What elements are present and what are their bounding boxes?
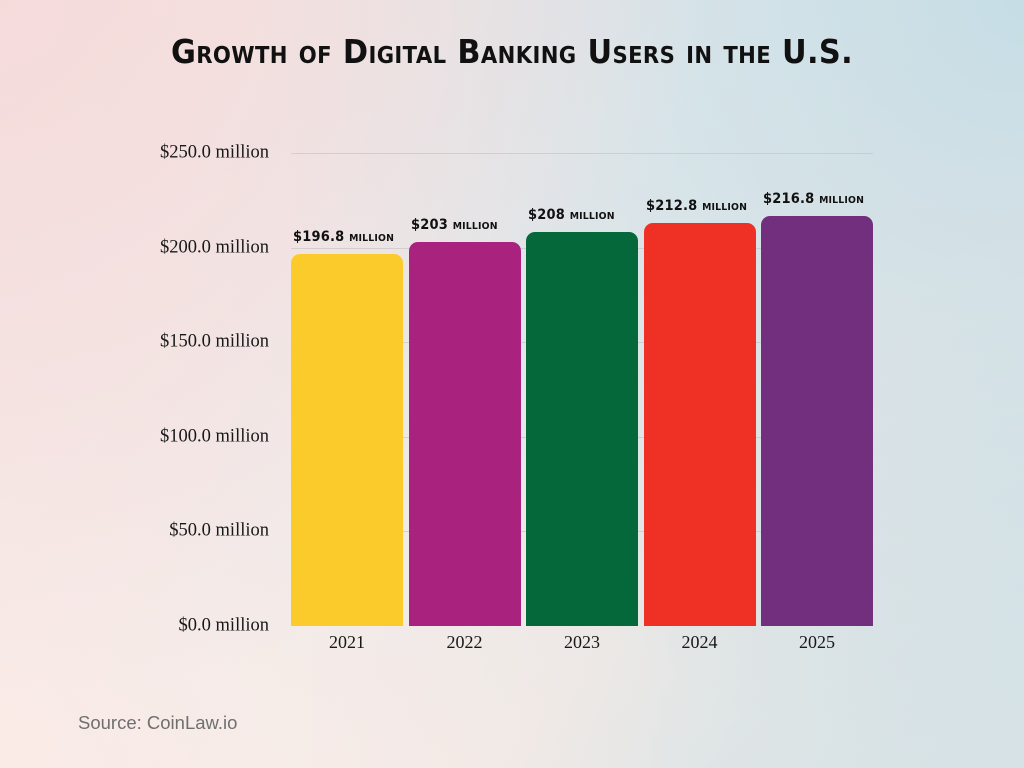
bar-value-label-2024: $212.8 million <box>646 198 747 214</box>
bar-2024[interactable] <box>644 223 756 626</box>
bar-2021[interactable] <box>291 254 403 626</box>
y-tick-label-100: $100.0 million <box>160 426 269 447</box>
bar-2022[interactable] <box>409 242 521 626</box>
y-tick-label-200: $200.0 million <box>160 237 269 258</box>
x-tick-label-2023: 2023 <box>526 632 638 653</box>
x-tick-label-2025: 2025 <box>761 632 873 653</box>
y-tick-label-0: $0.0 million <box>179 616 269 637</box>
bar-group-2024: $212.8 million <box>644 153 756 626</box>
infographic-canvas: Growth of Digital Banking Users in the U… <box>0 0 1024 768</box>
bar-value-label-2021: $196.8 million <box>293 229 394 245</box>
bar-group-2022: $203 million <box>409 153 521 626</box>
bar-2023[interactable] <box>526 232 638 626</box>
bar-group-2025: $216.8 million <box>761 153 873 626</box>
bar-group-2021: $196.8 million <box>291 153 403 626</box>
y-tick-label-50: $50.0 million <box>169 521 269 542</box>
bar-2025[interactable] <box>761 216 873 626</box>
x-axis-labels: 2021 2022 2023 2024 2025 <box>291 632 873 662</box>
bar-value-label-2022: $203 million <box>411 217 498 233</box>
page-title: Growth of Digital Banking Users in the U… <box>41 32 983 71</box>
y-axis-labels: $250.0 million $200.0 million $150.0 mil… <box>0 153 283 626</box>
source-note: Source: CoinLaw.io <box>78 712 237 734</box>
x-tick-label-2022: 2022 <box>409 632 521 653</box>
x-tick-label-2024: 2024 <box>644 632 756 653</box>
bar-value-label-2025: $216.8 million <box>763 191 864 207</box>
y-tick-label-150: $150.0 million <box>160 332 269 353</box>
bar-value-label-2023: $208 million <box>528 207 615 223</box>
y-tick-label-250: $250.0 million <box>160 143 269 164</box>
bar-group-2023: $208 million <box>526 153 638 626</box>
x-tick-label-2021: 2021 <box>291 632 403 653</box>
bars-layer: $196.8 million $203 million $208 million… <box>291 153 873 626</box>
